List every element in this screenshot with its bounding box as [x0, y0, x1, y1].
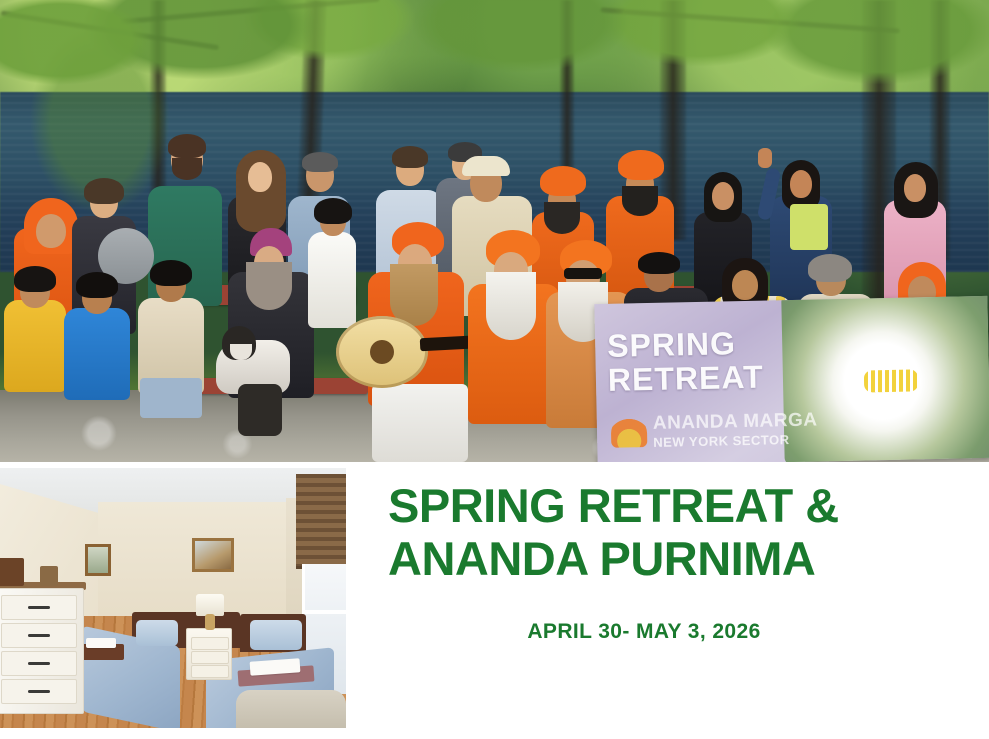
banner-title-line2: RETREAT — [608, 359, 764, 399]
table-lamp-shade — [196, 594, 224, 616]
ananda-marga-logo — [611, 415, 648, 448]
nightstand — [186, 628, 232, 680]
headline-line-2: ANANDA PURNIMA — [388, 532, 948, 587]
drawer-knob — [28, 690, 50, 693]
banner-org-line2: NEW YORK SECTOR — [653, 432, 790, 450]
spring-retreat-banner: SPRING RETREAT ANANDA MARGA NEW YORK SEC… — [594, 296, 989, 462]
lotus-stamen — [864, 370, 918, 393]
armchair — [236, 690, 346, 728]
banner-org-line1: ANANDA MARGA — [653, 409, 818, 434]
pillow-right — [250, 620, 302, 650]
poster-root: SPRING RETREAT ANANDA MARGA NEW YORK SEC… — [0, 0, 989, 739]
lotus-flower-image — [781, 296, 989, 462]
decor-candle — [40, 566, 58, 586]
framed-picture-left — [85, 544, 111, 576]
white-dresser — [0, 588, 84, 714]
event-dateline: APRIL 30- MAY 3, 2026 — [388, 620, 900, 644]
dresser-drawer — [1, 651, 77, 676]
dresser-drawer — [1, 679, 77, 704]
drawer-knob — [28, 662, 50, 665]
bedroom-photo — [0, 468, 346, 728]
decor-box — [0, 558, 24, 586]
group-photo: SPRING RETREAT ANANDA MARGA NEW YORK SEC… — [0, 0, 989, 462]
headline-line-1: SPRING RETREAT & — [388, 479, 948, 534]
table-lamp-base — [205, 614, 215, 630]
pillow-left — [136, 620, 178, 646]
nightstand-drawer — [191, 637, 229, 650]
text-block: SPRING RETREAT & ANANDA PURNIMA APRIL 30… — [388, 479, 948, 644]
nightstand-drawer — [191, 651, 229, 664]
framed-picture-center — [192, 538, 234, 572]
dresser-drawer — [1, 623, 77, 648]
nightstand-drawer — [191, 665, 229, 678]
folded-towels-left — [86, 638, 116, 648]
drawer-knob — [28, 606, 50, 609]
window-blind — [296, 474, 346, 569]
dresser-drawer — [1, 595, 77, 620]
drawer-knob — [28, 634, 50, 637]
